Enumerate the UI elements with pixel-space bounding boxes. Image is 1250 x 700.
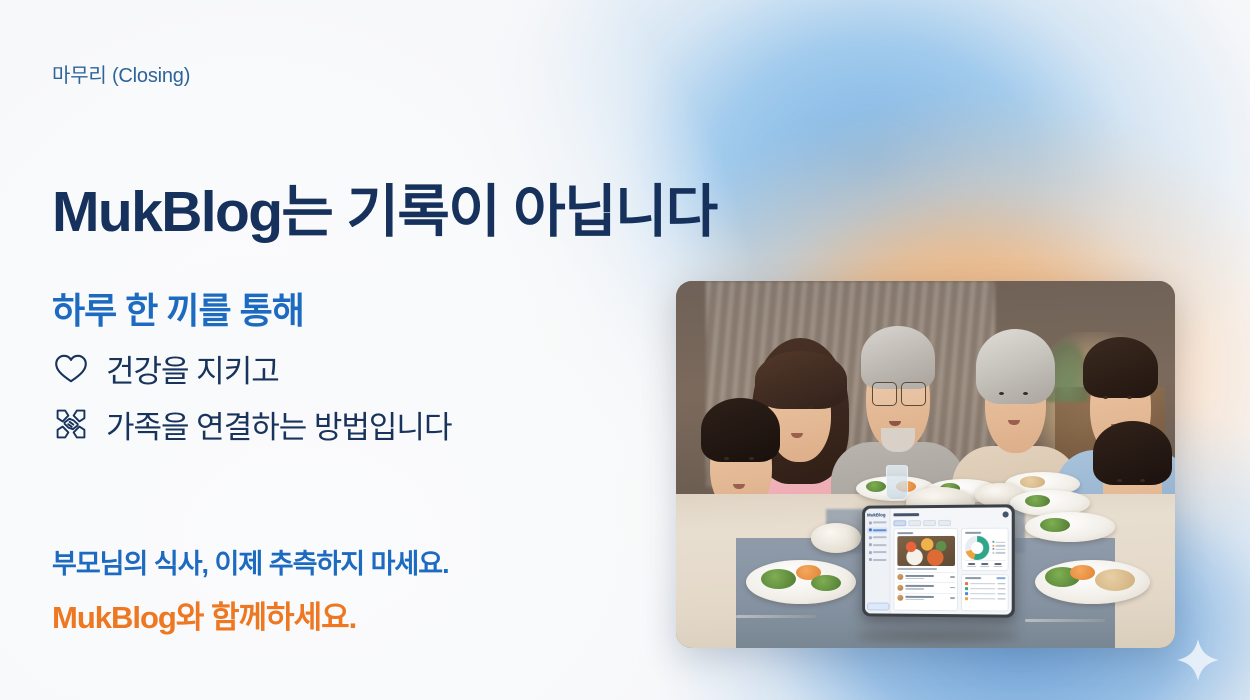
food bbox=[761, 569, 796, 589]
avatar[interactable] bbox=[1002, 511, 1008, 517]
nav-icon bbox=[868, 550, 871, 553]
stat-item bbox=[967, 562, 976, 567]
dashboard-main bbox=[890, 507, 1011, 614]
closing-line-primary: 부모님의 식사, 이제 추측하지 마세요. bbox=[52, 542, 449, 581]
sidebar-item[interactable] bbox=[867, 556, 888, 562]
card-action-link[interactable] bbox=[996, 577, 1005, 579]
avatar bbox=[897, 584, 903, 590]
sidebar-item[interactable] bbox=[867, 519, 888, 525]
photo-scene: MukBlog bbox=[676, 281, 1175, 648]
filter-chip[interactable] bbox=[893, 520, 906, 526]
tablet-screen[interactable]: MukBlog bbox=[865, 507, 1012, 614]
meal-photo bbox=[897, 535, 955, 565]
nav-label bbox=[872, 558, 885, 560]
family-dinner-photo: MukBlog bbox=[676, 281, 1175, 648]
sidebar-cta-button[interactable] bbox=[867, 602, 889, 610]
row-text bbox=[904, 596, 947, 601]
avatar bbox=[897, 595, 903, 601]
legend-item bbox=[992, 541, 1005, 543]
dashboard-columns bbox=[893, 527, 1008, 611]
nav-label bbox=[872, 521, 885, 523]
sidebar-item[interactable] bbox=[867, 549, 888, 555]
nav-icon bbox=[868, 521, 871, 524]
nav-icon bbox=[868, 528, 871, 531]
nav-icon bbox=[868, 558, 871, 561]
utensil-knife bbox=[1025, 619, 1105, 622]
nav-label bbox=[872, 551, 885, 553]
food bbox=[866, 481, 886, 492]
food bbox=[1025, 495, 1050, 507]
dashboard-logo: MukBlog bbox=[867, 512, 893, 517]
stat-item bbox=[980, 562, 989, 567]
tablet-shadow bbox=[856, 630, 1020, 642]
handshake-icon bbox=[52, 405, 90, 443]
stat-row bbox=[965, 559, 1005, 567]
nav-icon bbox=[868, 543, 871, 546]
sidebar-item-active[interactable] bbox=[867, 527, 888, 533]
avatar bbox=[897, 574, 903, 580]
food bbox=[1020, 476, 1045, 488]
row-text bbox=[904, 585, 947, 589]
legend-item bbox=[992, 548, 1005, 550]
chart-legend bbox=[992, 541, 1005, 554]
text-column: 마무리 (Closing) MukBlog는 기록이 아닙니다 하루 한 끼를 … bbox=[52, 0, 672, 700]
eyebrow-label: 마무리 (Closing) bbox=[52, 59, 190, 88]
list-item-label: 가족을 연결하는 방법입니다 bbox=[106, 402, 451, 447]
dashboard-title bbox=[893, 513, 919, 516]
legend-item bbox=[992, 552, 1005, 554]
sidebar-item[interactable] bbox=[867, 542, 888, 548]
card-header bbox=[965, 577, 1005, 579]
list-item: 건강을 지키고 bbox=[52, 340, 652, 396]
food bbox=[1095, 569, 1135, 591]
nav-label bbox=[872, 536, 885, 538]
row-value bbox=[949, 576, 954, 578]
soup-bowl bbox=[811, 523, 861, 552]
closing-slide: 마무리 (Closing) MukBlog는 기록이 아닙니다 하루 한 끼를 … bbox=[0, 0, 1250, 700]
row-value bbox=[949, 597, 954, 599]
table-row[interactable] bbox=[897, 571, 955, 580]
subheadline: 하루 한 끼를 통해 bbox=[52, 282, 304, 334]
nav-label bbox=[872, 529, 885, 531]
benefit-list: 건강을 지키고 bbox=[52, 340, 652, 452]
donut-chart bbox=[965, 535, 989, 559]
donut-chart-area bbox=[965, 535, 1005, 559]
food bbox=[811, 575, 841, 592]
stat-item bbox=[993, 562, 1002, 567]
card-label bbox=[897, 531, 913, 533]
table-row[interactable] bbox=[897, 582, 955, 591]
page-title: MukBlog는 기록이 아닙니다 bbox=[52, 181, 717, 245]
nav-icon bbox=[868, 536, 871, 539]
stats-column bbox=[961, 527, 1008, 611]
list-item: 가족을 연결하는 방법입니다 bbox=[52, 396, 652, 452]
utensil-knife bbox=[736, 615, 816, 618]
card-label bbox=[965, 531, 981, 533]
sidebar-item[interactable] bbox=[867, 534, 888, 540]
list-item[interactable] bbox=[965, 596, 1005, 601]
dashboard-topbar bbox=[893, 510, 1008, 518]
sparkle-icon bbox=[1176, 638, 1220, 682]
closing-line-cta: MukBlog와 함께하세요. bbox=[52, 592, 449, 637]
meal-card[interactable] bbox=[893, 528, 958, 611]
tablet-device[interactable]: MukBlog bbox=[862, 504, 1015, 617]
meal-caption bbox=[897, 567, 937, 569]
water-glass bbox=[886, 465, 908, 500]
filter-chip[interactable] bbox=[938, 520, 951, 526]
legend-item bbox=[992, 544, 1005, 546]
filter-chips[interactable] bbox=[893, 519, 1008, 526]
card-label bbox=[965, 577, 981, 579]
row-value bbox=[949, 587, 954, 589]
row-text bbox=[904, 575, 947, 579]
heart-outline-icon bbox=[52, 349, 90, 387]
history-card[interactable] bbox=[961, 573, 1008, 611]
plate bbox=[1025, 512, 1115, 541]
filter-chip[interactable] bbox=[908, 520, 921, 526]
closing-message: 부모님의 식사, 이제 추측하지 마세요. MukBlog와 함께하세요. bbox=[52, 542, 449, 637]
dashboard-sidebar[interactable]: MukBlog bbox=[865, 508, 890, 613]
filter-chip[interactable] bbox=[923, 520, 936, 526]
nav-label bbox=[872, 544, 885, 546]
table-row[interactable] bbox=[897, 592, 955, 601]
list-item-label: 건강을 지키고 bbox=[106, 346, 279, 391]
nutrition-card[interactable] bbox=[961, 527, 1008, 570]
